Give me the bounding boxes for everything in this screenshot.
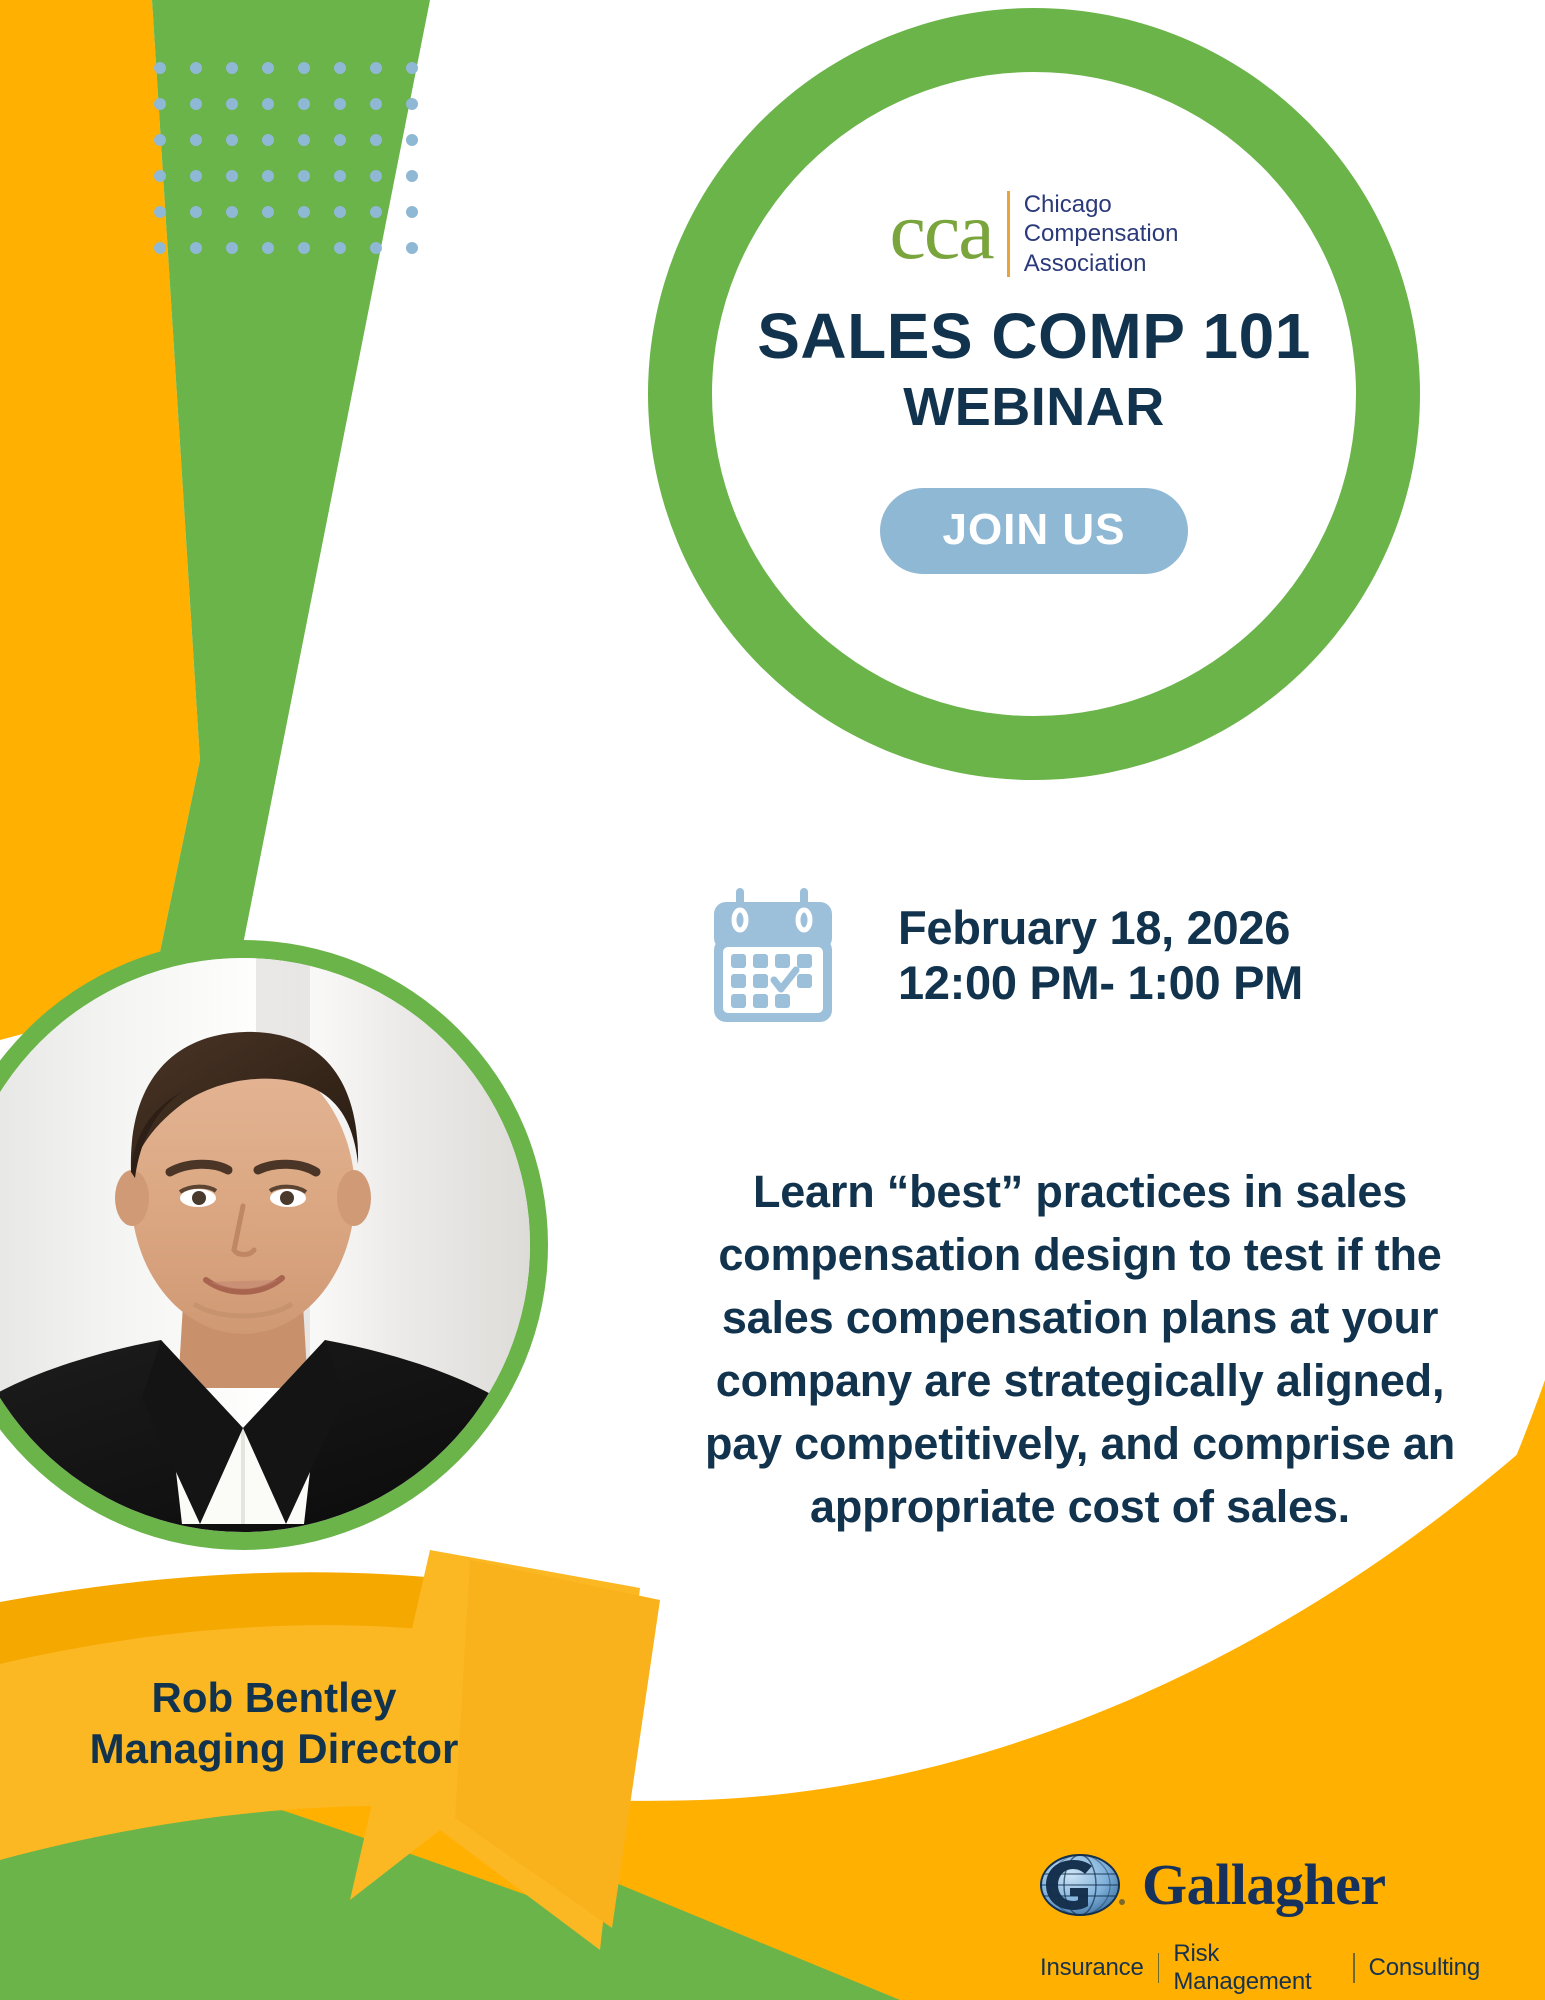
cca-logo: cca Chicago Compensation Association [890,190,1179,278]
service-consulting: Consulting [1369,1954,1480,1982]
calendar-check-icon [712,888,834,1022]
badge-content: cca Chicago Compensation Association SAL… [712,72,1356,716]
join-us-button[interactable]: JOIN US [880,488,1187,574]
sponsor-logo: Gallagher Insurance Risk Management Cons… [1040,1852,1480,1996]
speaker-name-title: Rob Bentley Managing Director [0,1672,548,1774]
page-subtitle: WEBINAR [903,380,1164,434]
webinar-flyer: cca Chicago Compensation Association SAL… [0,0,1545,2000]
event-datetime-row: February 18, 2026 12:00 PM- 1:00 PM [712,888,1303,1022]
service-divider-icon [1353,1953,1355,1983]
page-title: SALES COMP 101 [757,304,1311,368]
service-divider-icon [1158,1953,1160,1983]
vertical-rule-icon [1007,191,1010,277]
service-insurance: Insurance [1040,1954,1144,1982]
sponsor-services: Insurance Risk Management Consulting [1040,1940,1480,1996]
event-datetime-text: February 18, 2026 12:00 PM- 1:00 PM [898,900,1303,1011]
gallagher-globe-icon [1040,1852,1126,1918]
service-risk-management: Risk Management [1173,1940,1339,1996]
cca-wordmark: cca [890,199,993,269]
gallagher-wordmark: Gallagher [1142,1856,1386,1914]
cca-organization-name: Chicago Compensation Association [1024,190,1179,278]
event-description: Learn “best” practices in sales compensa… [700,1160,1460,1538]
